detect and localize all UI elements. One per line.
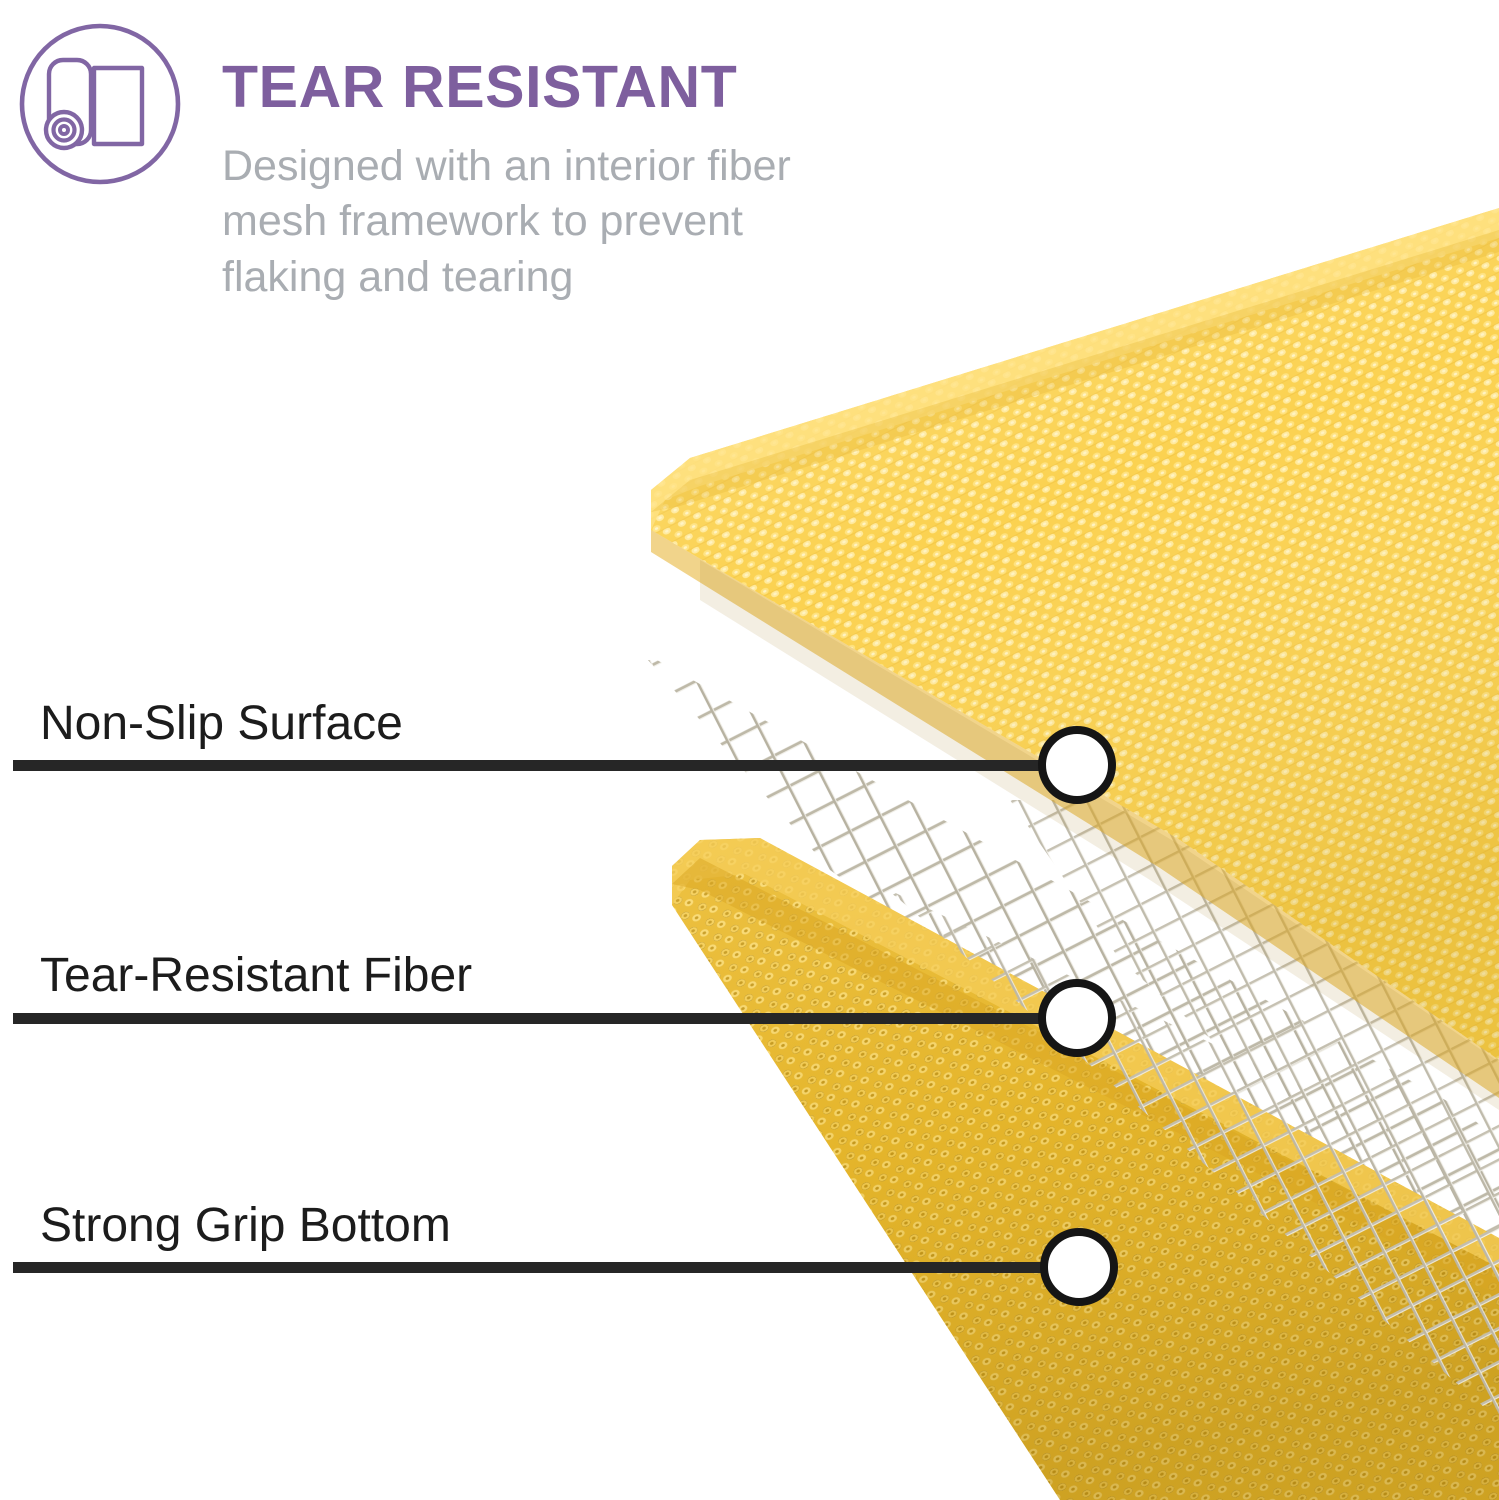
callout-label: Strong Grip Bottom <box>40 1202 451 1250</box>
rolled-mat-icon <box>14 18 186 190</box>
description-line-1: Designed with an interior fiber <box>222 139 982 194</box>
callout-leader-line <box>13 1262 1065 1273</box>
callout-dot-3 <box>1040 1228 1118 1306</box>
callout-leader-line <box>13 1013 1063 1024</box>
header-text-block: TEAR RESISTANT Designed with an interior… <box>222 58 1122 305</box>
description-line-3: flaking and tearing <box>222 250 982 305</box>
product-feature-infographic: TEAR RESISTANT Designed with an interior… <box>0 0 1499 1500</box>
callout-label: Non-Slip Surface <box>40 700 403 748</box>
callout-label: Tear-Resistant Fiber <box>40 952 472 1000</box>
callout-dot-2 <box>1038 979 1116 1057</box>
callout-leader-line <box>13 760 1063 771</box>
description-line-2: mesh framework to prevent <box>222 194 982 249</box>
feature-description: Designed with an interior fiber mesh fra… <box>222 117 982 305</box>
page-title: TEAR RESISTANT <box>222 58 1122 117</box>
callout-dot-1 <box>1038 726 1116 804</box>
